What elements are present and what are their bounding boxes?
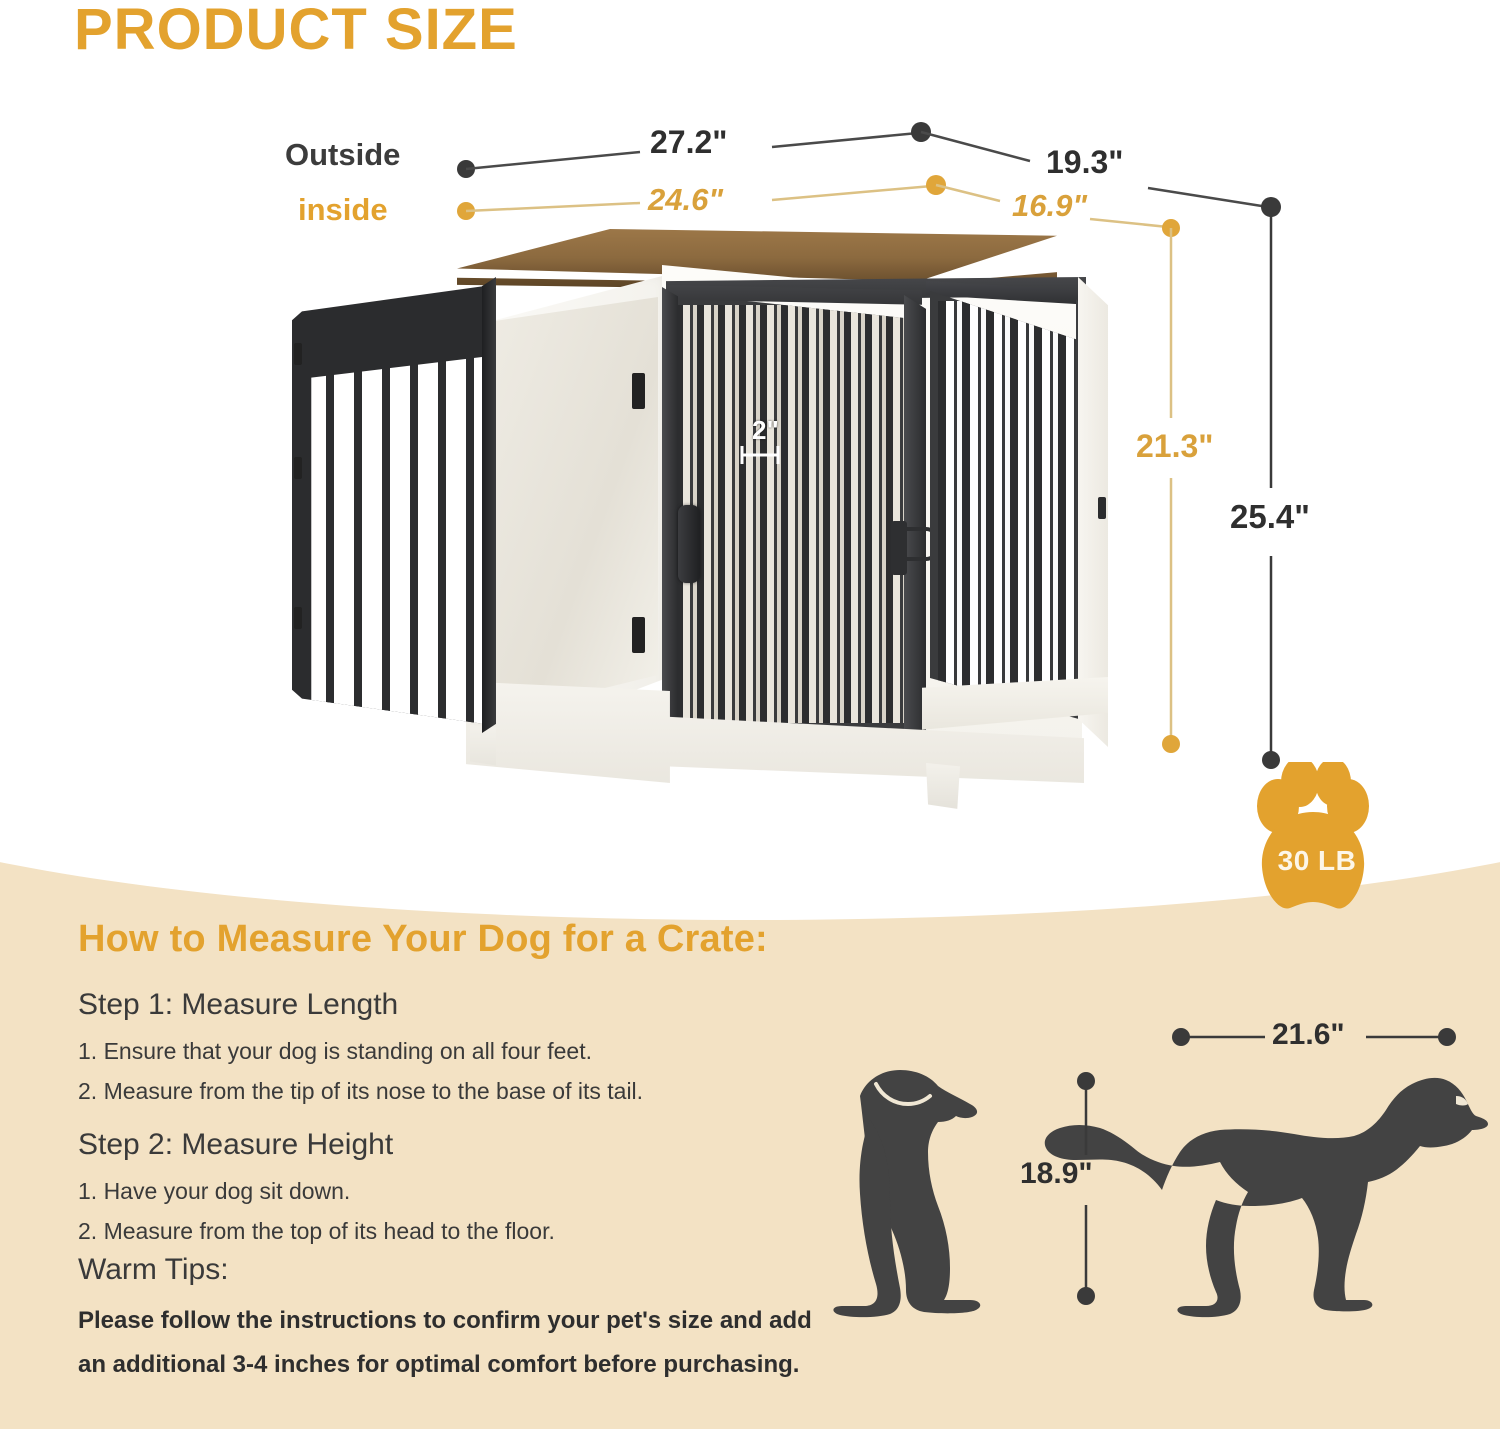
inside-depth-label: 16.9" [1012, 188, 1087, 224]
crate-door-hinge-1-icon [294, 343, 302, 365]
step-2-title: Step 2: Measure Height [78, 1128, 393, 1162]
crate-right-side-cage [930, 291, 1086, 721]
standing-dog-icon [1045, 1078, 1488, 1317]
bar-spacing-label: 2" [752, 415, 779, 446]
weight-badge-label: 30 LB [1262, 845, 1372, 877]
crate-wood-tabletop [457, 229, 1057, 281]
paw-icon [1238, 762, 1388, 917]
crate-door-hinge-2-icon [294, 457, 302, 479]
crate-side-bars [938, 301, 1080, 713]
sitting-dog-icon [833, 1070, 980, 1317]
step-2-line-1: 1. Have your dog sit down. [78, 1178, 350, 1205]
crate-interior-cavity [486, 297, 658, 717]
product-size-infographic: PRODUCT SIZE Outside inside [0, 0, 1500, 1429]
guide-heading: How to Measure Your Dog for a Crate: [78, 918, 768, 961]
dog-length-label: 21.6" [1272, 1018, 1345, 1052]
crate-foot-left [470, 725, 496, 777]
crate-hinge-top-icon [632, 373, 645, 409]
dog-silhouettes [820, 1000, 1500, 1330]
crate-door-hinge-3-icon [294, 607, 302, 629]
crate-front-bars [676, 305, 912, 723]
dog-crate-illustration [290, 225, 1170, 790]
crate-open-door-edge [482, 277, 496, 733]
crate-hinge-bottom-icon [632, 617, 645, 653]
outside-width-label: 27.2" [650, 124, 727, 161]
crate-open-door-bars [306, 357, 482, 725]
outside-height-label: 25.4" [1230, 498, 1310, 536]
outside-depth-label: 19.3" [1046, 144, 1123, 181]
inside-width-label: 24.6" [648, 182, 723, 218]
step-2-line-2: 2. Measure from the top of its head to t… [78, 1218, 555, 1245]
inside-height-label: 21.3" [1136, 428, 1213, 465]
crate-open-left-door[interactable] [292, 285, 492, 725]
legend-inside-label: inside [298, 192, 388, 228]
legend-outside-label: Outside [285, 137, 400, 173]
crate-front-door-panel [666, 283, 922, 745]
warm-tips-title: Warm Tips: [78, 1253, 229, 1287]
page-title: PRODUCT SIZE [74, 0, 518, 63]
crate-door-handle[interactable] [678, 505, 700, 583]
crate-front-left-stile [662, 287, 678, 753]
warm-tips-line-2: an additional 3-4 inches for optimal com… [78, 1351, 799, 1379]
step-1-line-1: 1. Ensure that your dog is standing on a… [78, 1038, 592, 1065]
dog-height-label: 18.9" [1020, 1157, 1093, 1191]
crate-right-handle [1098, 497, 1106, 519]
warm-tips-line-1: Please follow the instructions to confir… [78, 1307, 812, 1335]
crate-front-center-stile [904, 295, 926, 757]
step-1-line-2: 2. Measure from the tip of its nose to t… [78, 1078, 643, 1105]
step-1-title: Step 1: Measure Length [78, 988, 398, 1022]
